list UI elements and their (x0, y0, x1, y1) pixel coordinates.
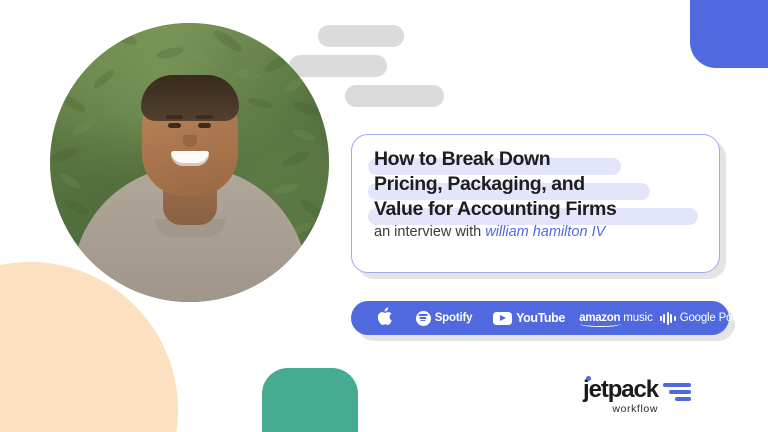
amazon-smile-icon (580, 321, 621, 327)
google-podcasts-label: Google Podcasts (680, 312, 765, 324)
blue-corner-shape (690, 0, 768, 68)
episode-title-line-3: Value for Accounting Firms (374, 197, 704, 222)
spotify-icon (416, 311, 431, 326)
portrait-hair (141, 75, 239, 121)
platform-spotify[interactable]: Spotify (401, 311, 487, 326)
spotify-label: Spotify (435, 312, 473, 324)
amazon-music-wordmark: amazon music (579, 312, 653, 324)
platform-google-podcasts[interactable]: Google Podcasts (661, 312, 763, 325)
brand-j-dot-icon (586, 376, 591, 381)
podcast-episode-graphic: How to Break Down Pricing, Packaging, an… (0, 0, 768, 432)
platform-youtube[interactable]: YouTube (487, 311, 571, 325)
portrait-background-foliage (50, 23, 329, 302)
brand-speed-lines-icon (663, 383, 691, 401)
portrait-brow-right (196, 115, 213, 119)
podcast-platform-bar: Spotify YouTube amazon music Google Podc… (351, 301, 729, 335)
episode-subtitle: an interview with william hamilton IV (374, 224, 605, 240)
jetpack-workflow-logo: jetpack workflow (583, 378, 691, 415)
portrait-brow-left (166, 115, 183, 119)
amazon-music-label: music (623, 312, 653, 324)
portrait-smile (171, 151, 209, 166)
youtube-play-icon (493, 312, 512, 325)
brand-name: jetpack (583, 378, 658, 402)
subtitle-prefix: an interview with (374, 224, 481, 240)
decorative-bar-1 (318, 25, 404, 47)
episode-title-line-2: Pricing, Packaging, and (374, 172, 704, 197)
apple-icon (376, 306, 393, 331)
episode-title-line-1: How to Break Down (374, 147, 704, 172)
portrait-eye-left (168, 123, 181, 128)
episode-title: How to Break Down Pricing, Packaging, an… (374, 147, 704, 222)
teal-rounded-shape (262, 368, 358, 432)
decorative-bar-3 (345, 85, 444, 107)
episode-title-card: How to Break Down Pricing, Packaging, an… (351, 134, 720, 273)
platform-apple-podcasts[interactable] (367, 306, 401, 331)
youtube-label: YouTube (516, 311, 565, 325)
brand-wordmark: jetpack workflow (583, 378, 658, 415)
apple-logo-icon (376, 306, 393, 327)
brand-name-text: jetpack (583, 376, 658, 403)
google-podcasts-waveform-icon (660, 312, 676, 325)
portrait-eye-right (198, 123, 211, 128)
platform-amazon-music[interactable]: amazon music (571, 312, 661, 324)
guest-portrait (50, 23, 329, 302)
brand-tagline: workflow (583, 403, 658, 415)
guest-name: william hamilton IV (485, 224, 605, 240)
